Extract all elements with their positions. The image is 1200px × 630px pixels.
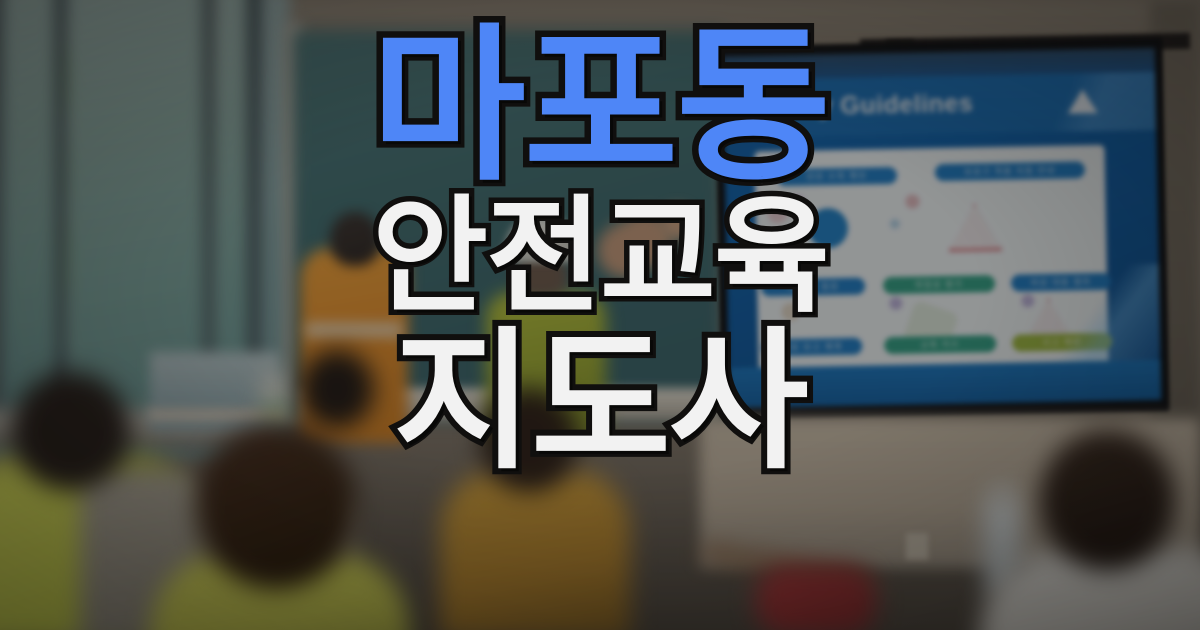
- thumbnail-canvas: ty Guidelines 안전 수칙 확인 보호구 착용 지침 안내: [0, 0, 1200, 630]
- decor-dot: [767, 203, 787, 223]
- presentation-display: ty Guidelines 안전 수칙 확인 보호구 착용 지침 안내: [723, 48, 1162, 408]
- red-object: [756, 566, 876, 630]
- wall-outlet: [905, 532, 929, 560]
- presenter-vest-stripe: [306, 322, 402, 338]
- audience-head: [480, 388, 578, 492]
- window-pane-right: [216, 0, 252, 384]
- slide-label-pill: 작업 전 점검: [761, 277, 865, 296]
- paper-cup: [262, 372, 288, 408]
- decor-dot: [889, 297, 902, 310]
- audience-head: [12, 372, 130, 490]
- warning-triangle-icon: [948, 203, 1003, 252]
- bottle-cap: [992, 486, 1012, 502]
- decor-dot: [890, 219, 900, 229]
- triangle-logo-icon: [1067, 89, 1097, 114]
- decor-dot: [791, 195, 804, 208]
- audience-body: [440, 470, 630, 630]
- window-mullion: [56, 0, 65, 422]
- audience-head: [196, 424, 356, 589]
- presenter2-hand: [660, 206, 694, 240]
- decor-dot: [781, 303, 799, 321]
- green-object: [266, 404, 284, 422]
- audience-head: [1040, 430, 1175, 570]
- audience-hivis-vest: [0, 470, 80, 630]
- background-photo: ty Guidelines 안전 수칙 확인 보호구 착용 지침 안내: [0, 0, 1200, 630]
- decor-dot: [754, 231, 770, 247]
- presenter2-hard-hat-brim: [498, 250, 584, 261]
- person-circle-icon: [808, 208, 849, 249]
- slide-label-pill: 위험성 평가: [883, 275, 995, 294]
- window-pane-left: [4, 0, 60, 404]
- slide-label-pill: 교육 이수: [884, 335, 996, 354]
- decor-dot: [905, 194, 919, 208]
- window-mullion: [0, 0, 1, 422]
- presenter-head: [330, 212, 380, 266]
- slide-label-pill: 안전 수칙 확인: [777, 167, 897, 186]
- slide-label-pill: 현장 보고 체계: [762, 338, 862, 357]
- slide-title: ty Guidelines: [809, 89, 973, 121]
- audience-head: [300, 350, 374, 428]
- slide-footer-bar: [729, 360, 1162, 408]
- slide-label-pill: 보호구 착용 지침 안내: [935, 161, 1085, 181]
- presenter2-face: [514, 256, 568, 298]
